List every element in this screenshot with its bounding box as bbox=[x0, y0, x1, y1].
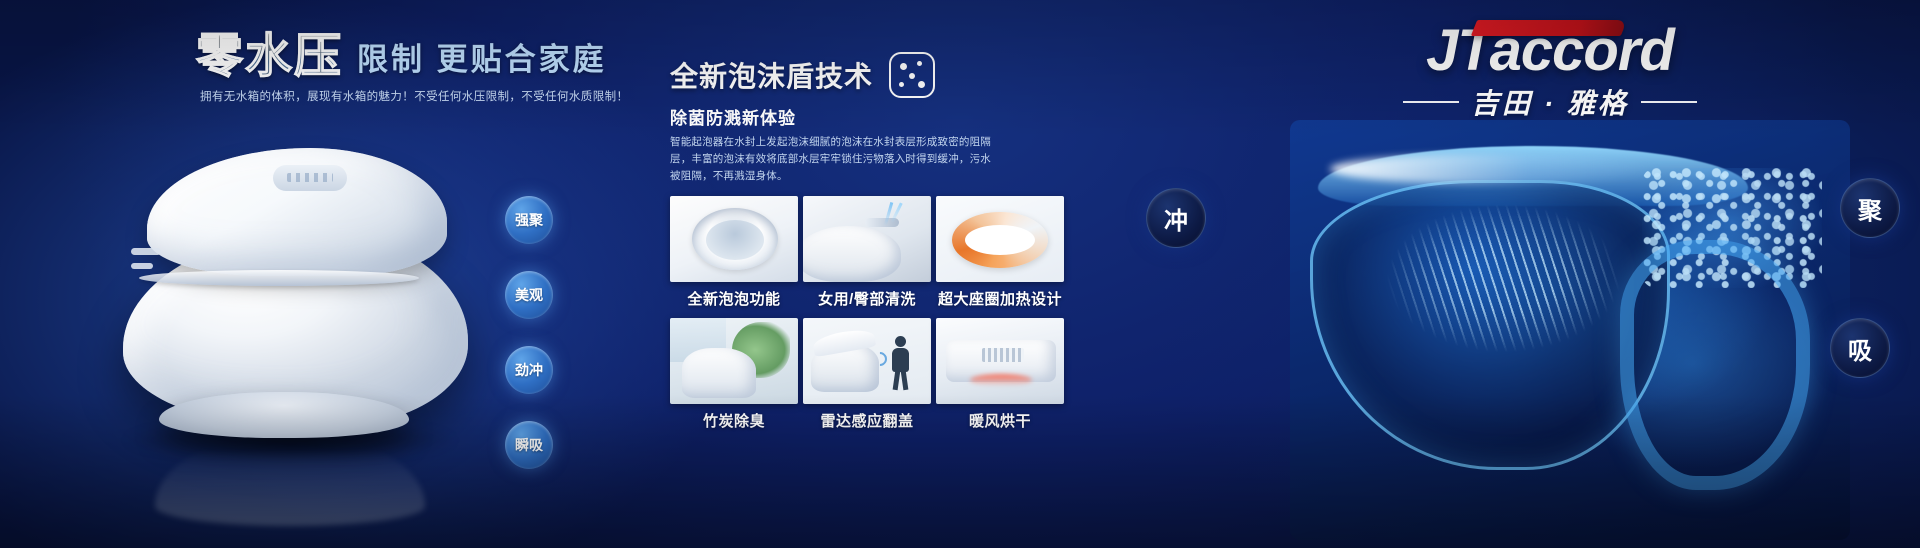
feature-pill-shunxi[interactable]: 瞬吸 bbox=[505, 421, 553, 469]
feature-pill-jingchong[interactable]: 劲冲 bbox=[505, 346, 553, 394]
feature-card-image-deodorize bbox=[670, 318, 798, 404]
feature-card-caption: 暖风烘干 bbox=[969, 410, 1031, 431]
feature-card-caption: 全新泡泡功能 bbox=[687, 288, 780, 309]
left-panel: 零水压 限制 更贴合家庭 拥有无水箱的体积，展现有水箱的魅力！不受任何水压限制，… bbox=[0, 0, 650, 548]
foam-bubble-icon bbox=[889, 52, 935, 98]
feature-card-image-warm-dry bbox=[936, 318, 1064, 404]
feature-card-image-heated-seat bbox=[936, 196, 1064, 282]
middle-paragraph-text: 智能起泡器在水封上发起泡沫细腻的泡沫在水封表层形成致密的阻隔层，丰富的泡沫有效将… bbox=[670, 134, 1000, 185]
feature-card-warm-dry[interactable]: 暖风烘干 bbox=[936, 318, 1064, 404]
toilet-base bbox=[159, 392, 409, 438]
toilet-panel-indicator-dots bbox=[287, 173, 333, 182]
toilet-xray-cross-section-image bbox=[1290, 120, 1850, 540]
brand-logo-wordmark: JTaccord bbox=[1426, 22, 1674, 80]
feature-card-caption: 女用/臀部清洗 bbox=[818, 288, 916, 309]
feature-card-deodorize[interactable]: 竹炭除臭 bbox=[670, 318, 798, 404]
smart-toilet-product-image bbox=[95, 120, 495, 450]
feature-card-image-foam bbox=[670, 196, 798, 282]
toilet-seam bbox=[139, 270, 419, 286]
brand-logo[interactable]: JTaccord 吉田 · 雅格 bbox=[1340, 22, 1760, 122]
feature-card-wash[interactable]: 女用/臀部清洗 bbox=[803, 196, 931, 282]
right-panel: JTaccord 吉田 · 雅格 冲 聚 吸 bbox=[1140, 0, 1920, 548]
feature-card-caption: 竹炭除臭 bbox=[703, 410, 765, 431]
feature-card-heated-seat[interactable]: 超大座圈加热设计 bbox=[936, 196, 1064, 282]
feature-card-image-wash bbox=[803, 196, 931, 282]
xray-highlight-glow bbox=[1330, 154, 1660, 184]
headline-main-text: 零水压 bbox=[196, 32, 343, 80]
feature-card-caption: 超大座圈加热设计 bbox=[938, 288, 1062, 309]
headline-sub-text: 限制 更贴合家庭 bbox=[357, 44, 607, 80]
logo-divider-right bbox=[1641, 101, 1697, 103]
badge-ju[interactable]: 聚 bbox=[1840, 178, 1900, 238]
middle-title-text: 全新泡沫盾技术 bbox=[670, 55, 873, 95]
badge-chong[interactable]: 冲 bbox=[1146, 188, 1206, 248]
badge-xi[interactable]: 吸 bbox=[1830, 318, 1890, 378]
xray-siphon-trap bbox=[1620, 240, 1810, 490]
brand-logo-red-swoosh bbox=[1471, 20, 1627, 36]
promo-banner: 零水压 限制 更贴合家庭 拥有无水箱的体积，展现有水箱的魅力！不受任何水压限制，… bbox=[0, 0, 1920, 548]
logo-divider-left bbox=[1403, 101, 1459, 103]
toilet-side-button-lower bbox=[131, 263, 153, 269]
middle-heading-row: 全新泡沫盾技术 bbox=[670, 52, 935, 98]
feature-card-foam[interactable]: 全新泡泡功能 bbox=[670, 196, 798, 282]
feature-pill-list: 强聚 美观 劲冲 瞬吸 bbox=[505, 196, 553, 469]
feature-card-image-radar-lid bbox=[803, 318, 931, 404]
middle-subtitle-text: 除菌防溅新体验 bbox=[670, 104, 796, 129]
brand-logo-chinese-name: 吉田 · 雅格 bbox=[1471, 82, 1629, 122]
left-description-text: 拥有无水箱的体积，展现有水箱的魅力！不受任何水压限制，不受任何水质限制！ bbox=[200, 88, 620, 104]
feature-pill-qiangju[interactable]: 强聚 bbox=[505, 196, 553, 244]
feature-pill-meiguan[interactable]: 美观 bbox=[505, 271, 553, 319]
feature-card-caption: 雷达感应翻盖 bbox=[820, 410, 913, 431]
feature-card-radar-lid[interactable]: 雷达感应翻盖 bbox=[803, 318, 931, 404]
feature-card-grid: 全新泡泡功能 女用/臀部清洗 超大座圈加热设计 竹炭除臭 bbox=[670, 196, 1064, 404]
left-headline: 零水压 限制 更贴合家庭 bbox=[196, 32, 607, 80]
toilet-side-button-upper bbox=[131, 248, 161, 255]
brand-logo-sub-row: 吉田 · 雅格 bbox=[1340, 82, 1760, 122]
